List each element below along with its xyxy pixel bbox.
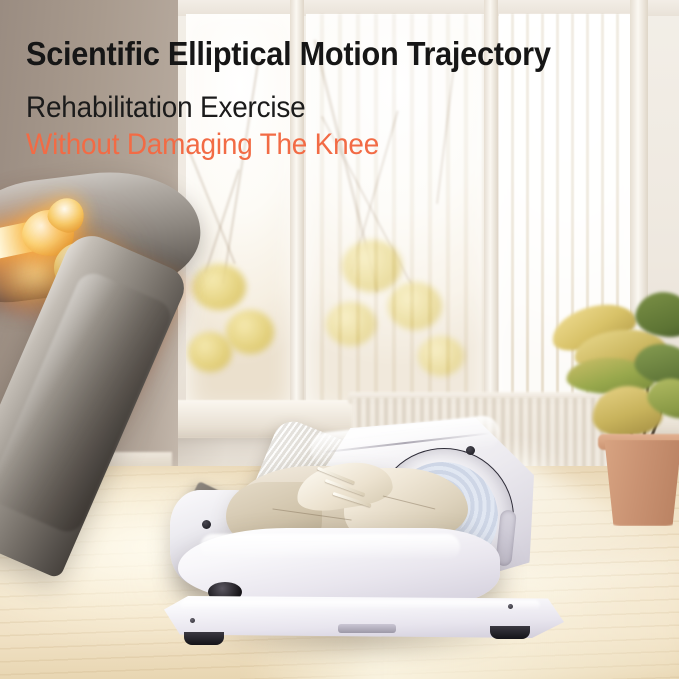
headline-secondary: Rehabilitation Exercise [26, 91, 603, 124]
plant-pot [602, 440, 679, 526]
base-foot-right [490, 626, 530, 639]
headline-block: Scientific Elliptical Motion Trajectory … [26, 36, 646, 161]
base-screw [508, 604, 513, 609]
base-highlight [180, 600, 540, 610]
elliptical-machine-foreground [160, 418, 580, 653]
product-banner: Scientific Elliptical Motion Trajectory … [0, 0, 679, 679]
base-foot-left [184, 632, 224, 645]
base-screw [190, 618, 195, 623]
base-center-tab [338, 624, 396, 633]
headline-primary: Scientific Elliptical Motion Trajectory [26, 36, 603, 72]
pedal-highlight [200, 534, 460, 560]
headline-accent: Without Damaging The Knee [26, 128, 603, 161]
